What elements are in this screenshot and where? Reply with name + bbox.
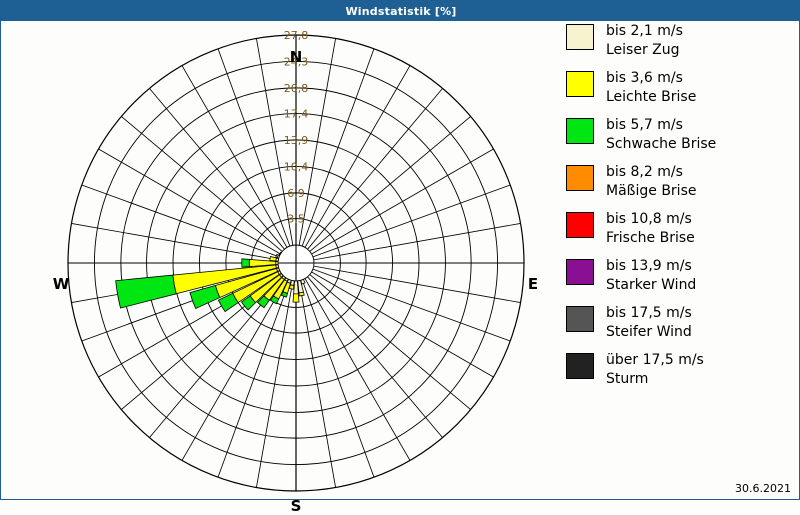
grid-spoke (308, 277, 443, 438)
legend-speed-label: bis 2,1 m/s (606, 23, 683, 39)
legend-item[interactable]: bis 13,9 m/sStarker Wind (566, 257, 800, 295)
legend-name-label: Leiser Zug (606, 41, 683, 60)
legend-label: über 17,5 m/sSturm (606, 351, 704, 389)
legend-color-swatch (566, 71, 594, 97)
legend-label: bis 5,7 m/sSchwache Brise (606, 116, 716, 154)
grid-spoke (310, 116, 471, 251)
legend-speed-label: bis 8,2 m/s (606, 164, 683, 180)
legend-item[interactable]: bis 8,2 m/sMäßige Brise (566, 163, 800, 201)
legend-speed-label: bis 5,7 m/s (606, 117, 683, 133)
windrose-wedge (293, 294, 299, 302)
legend-item[interactable]: bis 3,6 m/sLeichte Brise (566, 69, 800, 107)
legend-name-label: Steifer Wind (606, 323, 692, 342)
legend-speed-label: bis 13,9 m/s (606, 258, 692, 274)
legend-label: bis 17,5 m/sSteifer Wind (606, 304, 692, 342)
radial-tick-label: 13,9 (284, 134, 309, 147)
legend-item[interactable]: bis 17,5 m/sSteifer Wind (566, 304, 800, 342)
legend-label: bis 2,1 m/sLeiser Zug (606, 22, 683, 60)
windrose-wedge (270, 256, 277, 261)
legend-label: bis 8,2 m/sMäßige Brise (606, 163, 696, 201)
legend-item[interactable]: bis 2,1 m/sLeiser Zug (566, 22, 800, 60)
radial-tick-label: 17,4 (284, 108, 309, 121)
legend-speed-label: bis 10,8 m/s (606, 211, 692, 227)
legend-label: bis 3,6 m/sLeichte Brise (606, 69, 696, 107)
cardinal-east: E (513, 275, 553, 293)
grid-spoke (256, 281, 292, 488)
legend-item[interactable]: bis 5,7 m/sSchwache Brise (566, 116, 800, 154)
cardinal-west: W (41, 275, 81, 293)
legend-label: bis 10,8 m/sFrische Brise (606, 210, 695, 248)
radial-tick-label: 6,9 (287, 187, 305, 200)
windrose-wedge (242, 259, 250, 267)
legend-color-swatch (566, 353, 594, 379)
grid-spoke (314, 266, 521, 302)
window-root: Windstatistik [%] 3,56,910,413,917,420,8… (0, 0, 800, 500)
legend-name-label: Sturm (606, 370, 704, 389)
legend-speed-label: bis 3,6 m/s (606, 70, 683, 86)
grid-spoke (121, 116, 282, 251)
legend-name-label: Starker Wind (606, 276, 696, 295)
legend-name-label: Leichte Brise (606, 88, 696, 107)
grid-spoke (299, 281, 335, 488)
legend-color-swatch (566, 118, 594, 144)
radial-tick-label: 27,8 (284, 29, 309, 42)
grid-spoke (314, 223, 521, 259)
legend-color-swatch (566, 165, 594, 191)
windrose-svg: 3,56,910,413,917,420,824,327,8 (1, 22, 561, 500)
radial-tick-label: 20,8 (284, 82, 309, 95)
grid-spoke (71, 223, 278, 259)
window-title: Windstatistik [%] (345, 5, 456, 18)
grid-layer (68, 35, 524, 491)
windrose-plot: 3,56,910,413,917,420,824,327,8 N S W E (1, 22, 561, 500)
data-layer (116, 252, 305, 311)
radial-tick-label: 3,5 (287, 213, 305, 226)
legend-name-label: Schwache Brise (606, 135, 716, 154)
windrose-wedge (299, 292, 304, 296)
grid-spoke (310, 275, 471, 410)
grid-spoke (308, 88, 443, 249)
legend-color-swatch (566, 259, 594, 285)
legend-color-swatch (566, 306, 594, 332)
legend-name-label: Frische Brise (606, 229, 695, 248)
legend-item[interactable]: über 17,5 m/sSturm (566, 351, 800, 389)
legend-name-label: Mäßige Brise (606, 182, 696, 201)
legend-item[interactable]: bis 10,8 m/sFrische Brise (566, 210, 800, 248)
legend-speed-label: bis 17,5 m/s (606, 305, 692, 321)
legend-color-swatch (566, 24, 594, 50)
radial-tick-label: 10,4 (284, 160, 309, 173)
legend-color-swatch (566, 212, 594, 238)
legend: bis 2,1 m/sLeiser Zugbis 3,6 m/sLeichte … (566, 22, 800, 477)
grid-spoke (149, 88, 284, 249)
windrose-wedge (116, 275, 176, 308)
date-stamp: 30.6.2021 (735, 482, 791, 495)
legend-speed-label: über 17,5 m/s (606, 352, 704, 368)
window-titlebar: Windstatistik [%] (1, 1, 800, 21)
legend-label: bis 13,9 m/sStarker Wind (606, 257, 696, 295)
cardinal-north: N (276, 48, 316, 66)
